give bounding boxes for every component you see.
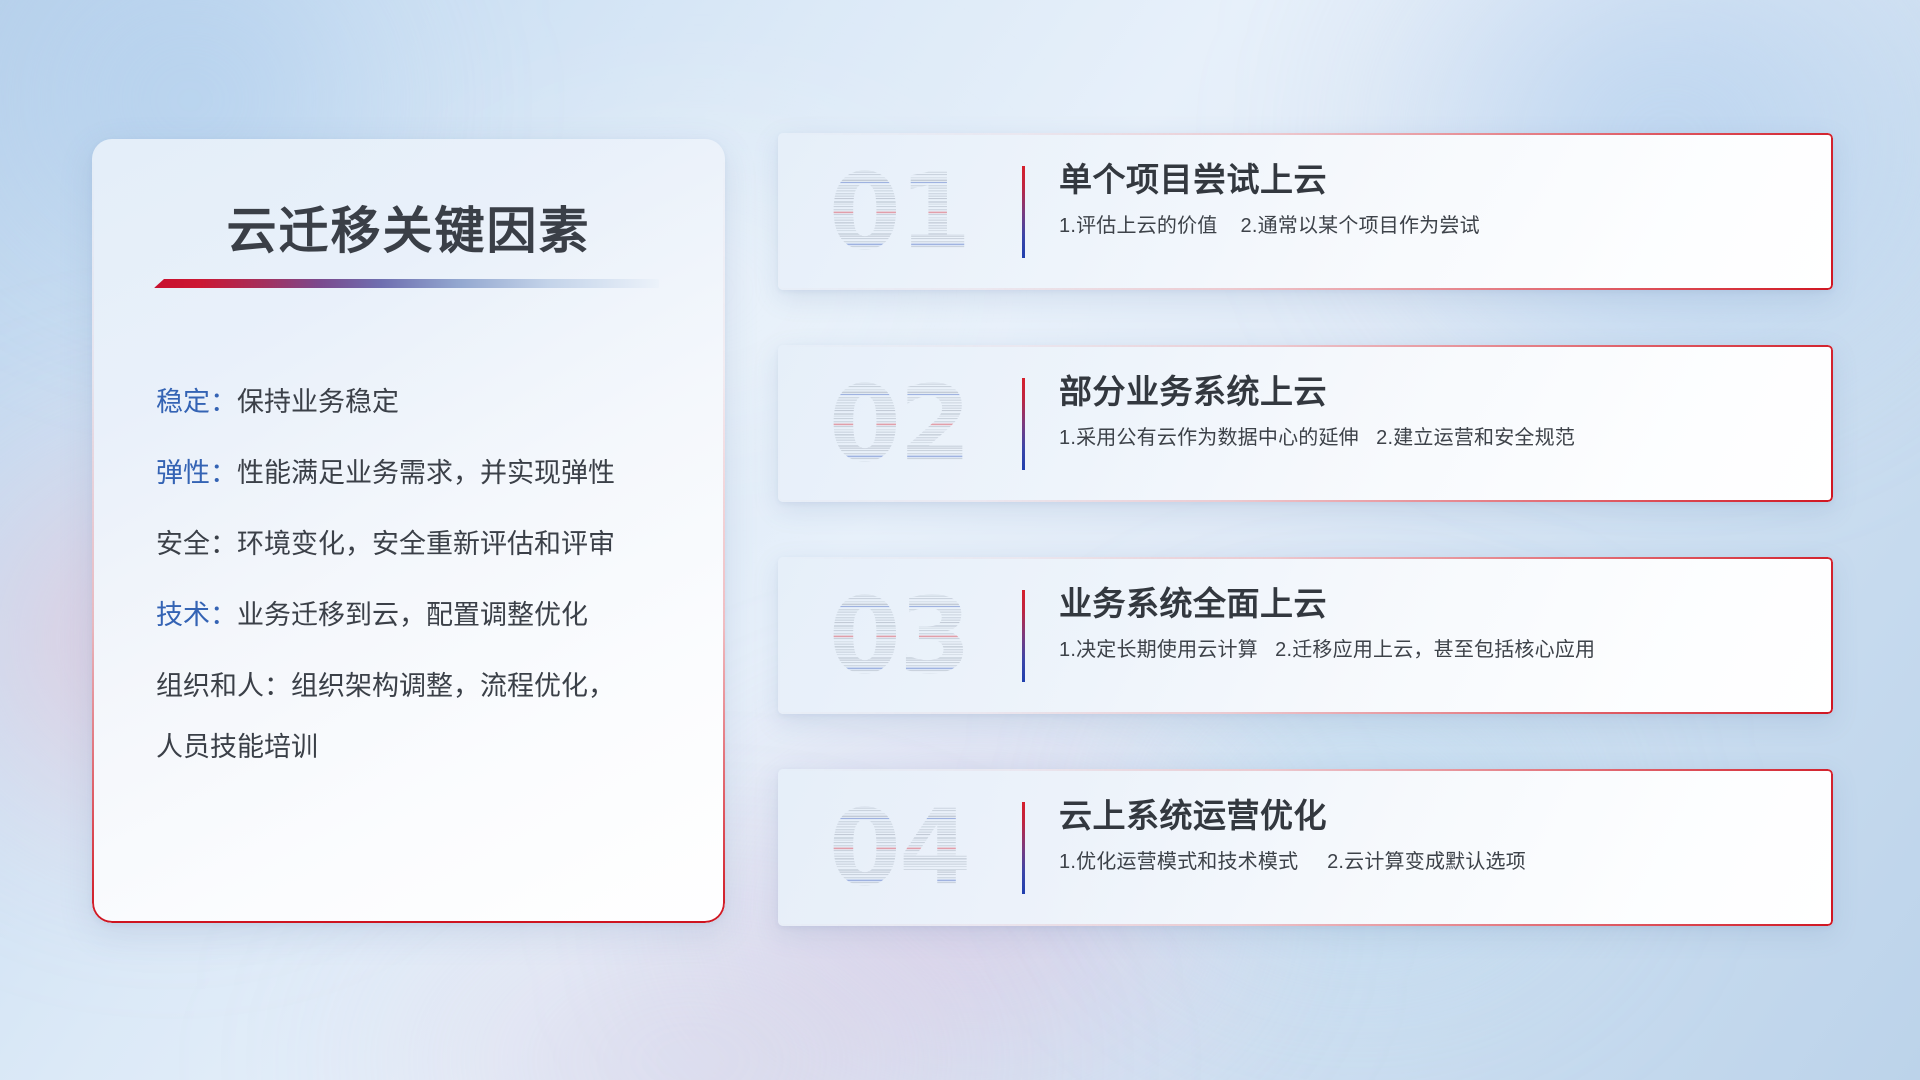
key-factor-text: 保持业务稳定 — [237, 387, 399, 417]
key-factor-label: 组织和人： — [156, 671, 291, 701]
key-factor-text: 组织架构调整，流程优化， — [291, 671, 615, 701]
step-title: 云上系统运营优化 — [1059, 797, 1809, 836]
step-subtitle: 1.优化运营模式和技术模式 2.云计算变成默认选项 — [1059, 850, 1809, 874]
title-underline-rule — [154, 279, 659, 288]
key-factor-row: 组织和人：组织架构调整，流程优化， — [156, 673, 689, 700]
migration-step-card[interactable]: 02部分业务系统上云1.采用公有云作为数据中心的延伸 2.建立运营和安全规范 — [778, 345, 1833, 502]
step-text-block: 部分业务系统上云1.采用公有云作为数据中心的延伸 2.建立运营和安全规范 — [1059, 373, 1809, 450]
migration-step-card[interactable]: 01单个项目尝试上云1.评估上云的价值 2.通常以某个项目作为尝试 — [778, 133, 1833, 290]
key-factor-row: 稳定：保持业务稳定 — [156, 389, 689, 416]
step-subtitle: 1.决定长期使用云计算 2.迁移应用上云，甚至包括核心应用 — [1059, 638, 1809, 662]
key-factor-row: 技术：业务迁移到云，配置调整优化 — [156, 602, 689, 629]
step-text-block: 业务系统全面上云1.决定长期使用云计算 2.迁移应用上云，甚至包括核心应用 — [1059, 585, 1809, 662]
key-factor-label: 技术： — [156, 600, 237, 630]
key-factor-label: 弹性： — [156, 458, 237, 488]
step-divider-bar — [1022, 378, 1025, 470]
key-factor-row: 安全：环境变化，安全重新评估和评审 — [156, 531, 689, 558]
step-divider-bar — [1022, 590, 1025, 682]
migration-step-card[interactable]: 03业务系统全面上云1.决定长期使用云计算 2.迁移应用上云，甚至包括核心应用 — [778, 557, 1833, 714]
key-factor-text: 环境变化，安全重新评估和评审 — [237, 529, 615, 559]
step-text-block: 云上系统运营优化1.优化运营模式和技术模式 2.云计算变成默认选项 — [1059, 797, 1809, 874]
key-factors-list: 稳定：保持业务稳定弹性：性能满足业务需求，并实现弹性安全：环境变化，安全重新评估… — [156, 389, 689, 761]
key-factor-row: 弹性：性能满足业务需求，并实现弹性 — [156, 460, 689, 487]
step-number-glitch-icon: 03 — [810, 576, 988, 696]
step-divider-bar — [1022, 802, 1025, 894]
key-factor-text: 人员技能培训 — [156, 732, 318, 762]
step-number-glitch-icon: 02 — [810, 364, 988, 484]
step-title: 单个项目尝试上云 — [1059, 161, 1809, 200]
migration-step-card[interactable]: 04云上系统运营优化1.优化运营模式和技术模式 2.云计算变成默认选项 — [778, 769, 1833, 926]
key-factor-label: 安全： — [156, 529, 237, 559]
step-title: 部分业务系统上云 — [1059, 373, 1809, 412]
key-factor-label: 稳定： — [156, 387, 237, 417]
key-factor-text: 性能满足业务需求，并实现弹性 — [237, 458, 615, 488]
slide-stage: 云迁移关键因素 稳定：保持业务稳定弹性：性能满足业务需求，并实现弹性安全：环境变… — [0, 0, 1920, 1080]
page-title: 云迁移关键因素 — [92, 191, 725, 263]
step-title: 业务系统全面上云 — [1059, 585, 1809, 624]
step-text-block: 单个项目尝试上云1.评估上云的价值 2.通常以某个项目作为尝试 — [1059, 161, 1809, 238]
step-divider-bar — [1022, 166, 1025, 258]
step-subtitle: 1.采用公有云作为数据中心的延伸 2.建立运营和安全规范 — [1059, 426, 1809, 450]
step-number-glitch-icon: 04 — [810, 788, 988, 908]
key-factor-text: 业务迁移到云，配置调整优化 — [237, 600, 588, 630]
step-number-glitch-icon: 01 — [810, 152, 988, 272]
key-factor-row: 人员技能培训 — [156, 734, 689, 761]
migration-steps-list: 01单个项目尝试上云1.评估上云的价值 2.通常以某个项目作为尝试02部分业务系… — [778, 133, 1833, 926]
step-subtitle: 1.评估上云的价值 2.通常以某个项目作为尝试 — [1059, 214, 1809, 238]
key-factors-panel: 云迁移关键因素 稳定：保持业务稳定弹性：性能满足业务需求，并实现弹性安全：环境变… — [92, 139, 725, 923]
